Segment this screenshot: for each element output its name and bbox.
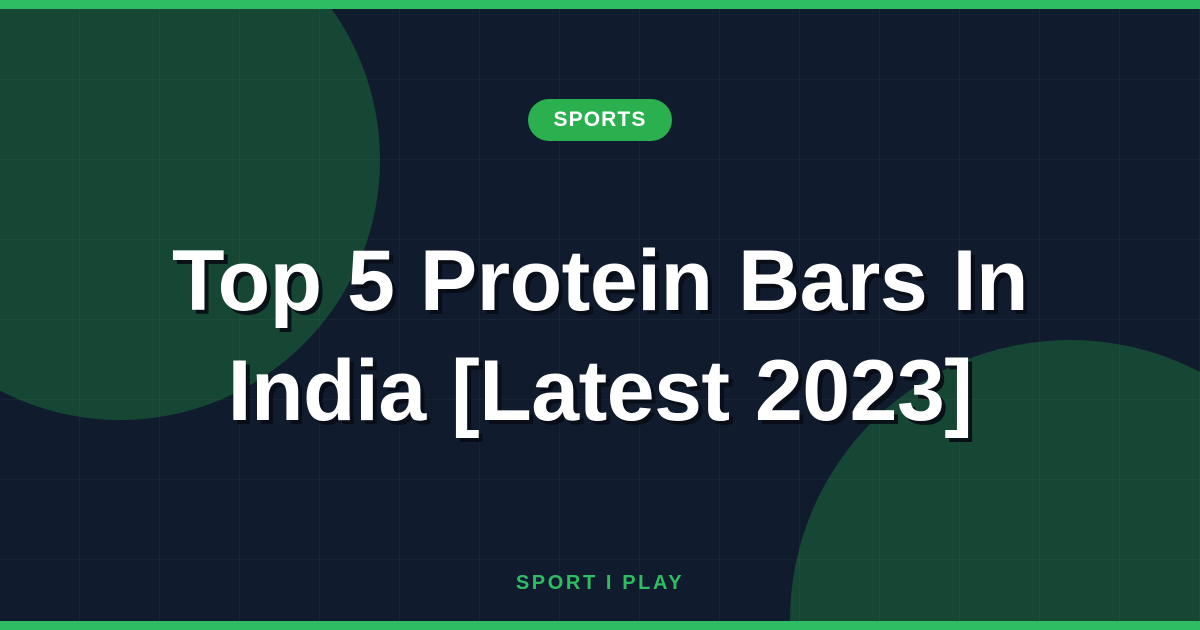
social-share-card: SPORTS Top 5 Protein Bars In India [Late…: [0, 0, 1200, 630]
category-badge[interactable]: SPORTS: [528, 99, 673, 141]
card-content: SPORTS Top 5 Protein Bars In India [Late…: [0, 0, 1200, 630]
page-title: Top 5 Protein Bars In India [Latest 2023…: [95, 226, 1105, 446]
